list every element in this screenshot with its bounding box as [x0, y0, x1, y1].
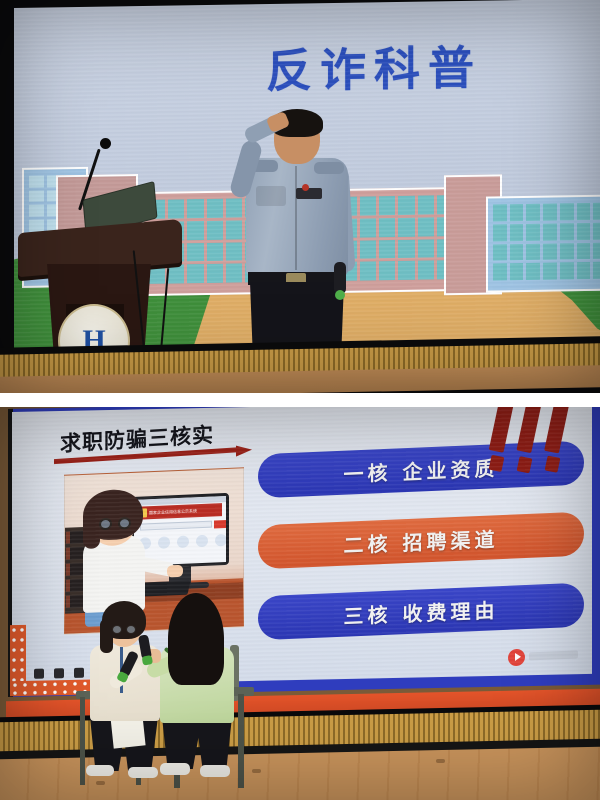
website-search-button — [214, 520, 226, 529]
bottom-photo: 求职防骗三核实 国家企业 — [0, 407, 600, 800]
student-right — [152, 595, 240, 779]
window-grid — [493, 203, 600, 281]
slide-title-top: 反诈科普 — [266, 45, 482, 94]
illustration-girl-glasses-icon — [99, 517, 133, 530]
student-right-hair — [168, 593, 224, 685]
student-left-shoe — [86, 765, 114, 776]
microphone-head-icon — [100, 138, 111, 149]
handheld-microphone-icon — [334, 262, 346, 294]
officer-chest-pocket — [256, 186, 286, 206]
student-right-trousers — [162, 717, 232, 769]
photo-divider — [0, 393, 600, 407]
officer-name-badge — [296, 188, 322, 199]
play-icon — [508, 648, 525, 666]
website-header: 国家企业信用信息公示系统 — [136, 503, 222, 520]
play-button-logo-icon — [508, 643, 578, 668]
exclamation-marks-icon — [466, 407, 586, 476]
photo-stack: 反诈科普 H — [0, 0, 600, 800]
illustration-girl-hand — [167, 565, 183, 578]
student-right-shoe — [160, 763, 190, 775]
officer-emblem-pin — [302, 184, 309, 191]
slide-bar-2: 二核 招聘渠道 — [258, 512, 584, 570]
website-title: 国家企业信用信息公示系统 — [149, 508, 197, 516]
officer-shirt-placket — [295, 166, 297, 270]
officer-shoulder-board-right — [314, 162, 344, 174]
student-right-shoe — [200, 765, 230, 777]
title-arrow-icon — [236, 445, 252, 457]
logo-bar — [529, 650, 578, 660]
illustration-girl-hair-side — [83, 512, 100, 549]
student-speakers-group — [84, 595, 264, 785]
illustration-monitor-screen: 国家企业信用信息公示系统 — [134, 496, 226, 566]
top-photo: 反诈科普 H — [0, 0, 600, 393]
website-icon-row — [139, 534, 226, 550]
cartoon-building-right-wide — [486, 195, 600, 293]
slide-bar-list: 一核 企业资质 二核 招聘渠道 三核 收费理由 — [258, 444, 584, 664]
slide-bar-3: 三核 收费理由 — [258, 583, 584, 641]
floor-fitting — [436, 759, 445, 763]
website-search-input — [140, 521, 212, 531]
glasses-icon — [112, 625, 138, 634]
officer-uniform-shirt — [246, 158, 348, 276]
